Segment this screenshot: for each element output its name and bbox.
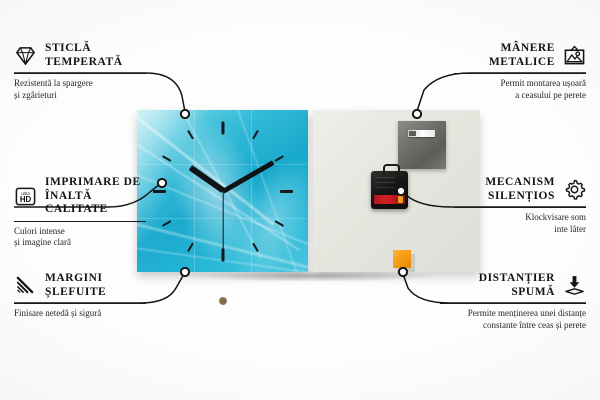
callout-rule: [14, 73, 146, 74]
callout-title: MARGINI ȘLEFUITE: [45, 272, 106, 299]
callout-foam-spacer[interactable]: DISTANȚIER SPUMĂ Permite menținerea unei…: [440, 272, 586, 331]
callout-head: STICLĂ TEMPERATĂ: [14, 42, 146, 69]
gear-icon: [563, 178, 586, 201]
callout-head: MECANISM SILENȚIOS: [454, 176, 586, 203]
callout-subtitle: Permit montarea ușoară a ceasului pe per…: [454, 78, 586, 101]
connector-dot-high-quality-print: [158, 179, 166, 187]
callout-head: MARGINI ȘLEFUITE: [14, 272, 146, 299]
callout-title: IMPRIMARE DE ÎNALTĂ CALITATE: [45, 176, 146, 217]
connector-dot-foam-spacer: [399, 268, 407, 276]
connector-dot-silent-mechanism: [397, 187, 405, 195]
callout-rule: [454, 207, 586, 208]
callout-head: DISTANȚIER SPUMĂ: [440, 272, 586, 299]
callout-title: MÂNERE METALICE: [489, 42, 555, 69]
callout-silent-mechanism[interactable]: MECANISM SILENȚIOS Klockvisare som inte …: [454, 176, 586, 235]
callout-rule: [14, 221, 146, 222]
callout-subtitle: Klockvisare som inte låter: [454, 212, 586, 235]
callout-subtitle: Rezistentă la spargere și zgârieturi: [14, 78, 146, 101]
connector-dot-polished-edges: [181, 268, 189, 276]
callout-rule: [14, 303, 146, 304]
callout-head: ultra HD IMPRIMARE DE ÎNALTĂ CALITATE: [14, 176, 146, 217]
polished-edges-icon: [14, 274, 37, 297]
ultra-hd-icon: ultra HD: [14, 185, 37, 208]
callout-rule: [454, 73, 586, 74]
callout-rule: [440, 303, 586, 304]
callout-subtitle: Culori intense și imagine clară: [14, 226, 146, 249]
arrow-down-layers-icon: [563, 274, 586, 297]
callout-metal-handles[interactable]: MÂNERE METALICE Permit montarea ușoară a…: [454, 42, 586, 101]
picture-hanger-icon: [563, 44, 586, 67]
diamond-icon: [14, 44, 37, 67]
callout-subtitle: Permite menținerea unei distanțe constan…: [440, 308, 586, 331]
callout-title: STICLĂ TEMPERATĂ: [45, 42, 123, 69]
callout-title: MECANISM SILENȚIOS: [485, 176, 555, 203]
callout-high-quality-print[interactable]: ultra HD IMPRIMARE DE ÎNALTĂ CALITATE Cu…: [14, 176, 146, 249]
connector-dot-metal-handles: [413, 110, 421, 118]
connector-dot-tempered-glass: [181, 110, 189, 118]
callout-head: MÂNERE METALICE: [454, 42, 586, 69]
callout-title: DISTANȚIER SPUMĂ: [479, 272, 555, 299]
callout-subtitle: Finisare netedă și sigură: [14, 308, 146, 320]
callout-tempered-glass[interactable]: STICLĂ TEMPERATĂ Rezistentă la spargere …: [14, 42, 146, 101]
callout-polished-edges[interactable]: MARGINI ȘLEFUITE Finisare netedă și sigu…: [14, 272, 146, 320]
svg-text:HD: HD: [20, 195, 32, 204]
infographic-stage: STICLĂ TEMPERATĂ Rezistentă la spargere …: [0, 0, 600, 400]
